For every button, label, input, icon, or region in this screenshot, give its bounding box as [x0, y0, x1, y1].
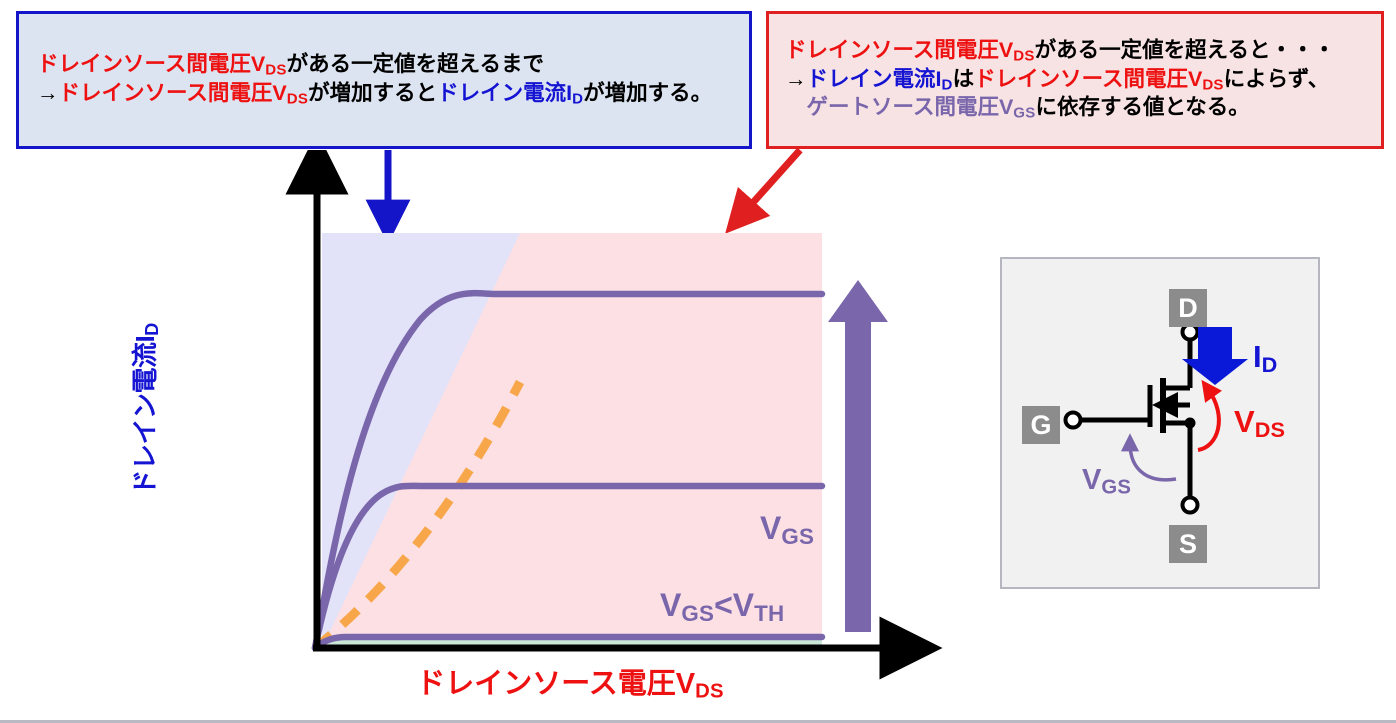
callout-right-line-2: →ドレイン電流IDはドレインソース間電圧VDSによらず、 [785, 66, 1381, 95]
y-axis-label: ドレイン電流ID [125, 259, 163, 559]
vgs-lt-vth-label: VGS<VTH [660, 587, 784, 627]
saturation-boundary-curve [315, 382, 520, 648]
callout-right-line-3: ゲートソース間電圧VGSに依存する値となる。 [785, 94, 1381, 123]
callout-saturation-region: ドレインソース間電圧VDSがある一定値を超えると・・・ →ドレイン電流IDはドレ… [766, 11, 1384, 149]
terminal-label-drain: D [1169, 289, 1207, 327]
terminal-label-gate: G [1022, 406, 1060, 444]
x-axis-label: ドレインソース電圧VDS [320, 660, 820, 703]
vds-label: VDS [1234, 404, 1285, 443]
vgs-magnitude-arrow [828, 280, 888, 632]
vgs-arrow-label-large: 大 [0, 164, 60, 203]
callout-right-line-1: ドレインソース間電圧VDSがある一定値を超えると・・・ [785, 37, 1381, 66]
drain-current-label: ID [1253, 339, 1278, 378]
callout-left-line-1: ドレインソース間電圧VDSがある一定値を超えるまで [37, 51, 749, 80]
vgs-plot-label: VGS [760, 510, 814, 550]
vgs-circuit-label: VGS [1082, 464, 1131, 499]
callout-left-line-2: →ドレインソース間電圧VDSが増加するとドレイン電流IDが増加する。 [37, 80, 749, 109]
slide-canvas: ドレインソース間電圧VDSがある一定値を超えるまで →ドレインソース間電圧VDS… [0, 0, 1396, 723]
output-characteristics-chart: 大 小 VGS VGS<VTH ドレイン電流ID ドレインソース電圧VDS [0, 150, 960, 710]
terminal-label-source: S [1169, 525, 1207, 563]
vgs-arrow-label-small: 小 [0, 450, 60, 489]
callout-linear-region: ドレインソース間電圧VDSがある一定値を超えるまで →ドレインソース間電圧VDS… [16, 11, 752, 149]
